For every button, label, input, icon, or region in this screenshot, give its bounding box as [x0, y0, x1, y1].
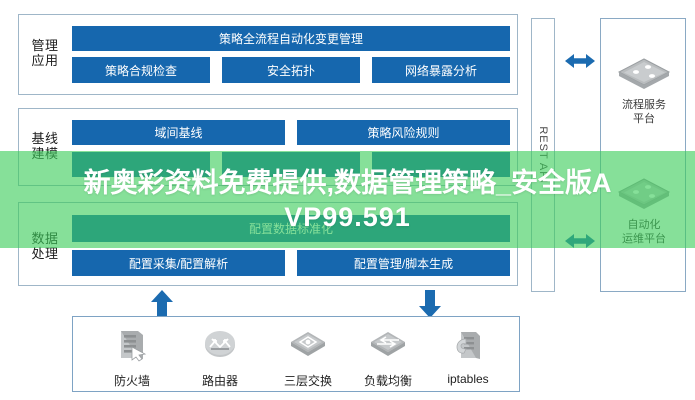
arrow-rest-to-process-platform-icon	[565, 52, 595, 75]
box-config-manage-script-gen[interactable]: 配置管理/脚本生成	[297, 250, 510, 276]
layer-label-line2: 应用	[24, 53, 66, 68]
device-load-balancer[interactable]: 负载均衡	[345, 325, 431, 389]
layer-label-line2: 处理	[24, 246, 66, 261]
iptables-icon	[425, 325, 511, 370]
device-label: 三层交换	[265, 372, 351, 389]
device-router[interactable]: 路由器	[177, 325, 263, 389]
diagram-canvas: 管理 应用 策略全流程自动化变更管理 策略合规检查 安全拓扑 网络暴露分析 基线…	[0, 0, 695, 400]
platform-label-line2: 平台	[601, 112, 687, 126]
rest-api-label: REST API	[537, 126, 549, 183]
box-baseline-sub-2[interactable]	[222, 152, 360, 177]
platform-automation-ops[interactable]: 自动化 运维平台	[601, 177, 687, 246]
layer-label-data-processing: 数据 处理	[24, 231, 66, 261]
firewall-icon	[89, 325, 175, 370]
layer-label-line2: 建模	[24, 146, 66, 161]
layer-label-management-application: 管理 应用	[24, 38, 66, 68]
layer3-switch-icon	[265, 325, 351, 370]
rest-api-channel: REST API	[531, 18, 555, 292]
box-network-exposure-analysis[interactable]: 网络暴露分析	[372, 57, 510, 83]
platform-cube-icon	[601, 57, 687, 94]
device-iptables[interactable]: iptables	[425, 325, 511, 386]
box-policy-full-process-automation[interactable]: 策略全流程自动化变更管理	[72, 26, 510, 51]
box-inter-domain-baseline[interactable]: 域间基线	[72, 120, 285, 145]
box-config-collect-parse[interactable]: 配置采集/配置解析	[72, 250, 285, 276]
device-label: 负载均衡	[345, 372, 431, 389]
box-policy-risk-rules[interactable]: 策略风险规则	[297, 120, 510, 145]
arrow-rest-to-ops-platform-icon	[565, 232, 595, 255]
platform-label-line1: 自动化	[601, 218, 687, 232]
platform-label-line1: 流程服务	[601, 98, 687, 112]
platform-label-line2: 运维平台	[601, 232, 687, 246]
platform-process-service[interactable]: 流程服务 平台	[601, 57, 687, 126]
device-label: 防火墙	[89, 372, 175, 389]
box-baseline-sub-3[interactable]	[372, 152, 510, 177]
layer-label-baseline-modeling: 基线 建模	[24, 131, 66, 161]
network-devices-panel: 防火墙 路由器	[72, 316, 520, 392]
device-label: iptables	[425, 372, 511, 386]
layer-label-line1: 基线	[24, 131, 66, 146]
layer-label-line1: 管理	[24, 38, 66, 53]
device-firewall[interactable]: 防火墙	[89, 325, 175, 389]
load-balancer-icon	[345, 325, 431, 370]
router-icon	[177, 325, 263, 370]
box-config-data-standardization[interactable]: 配置数据标准化	[72, 215, 510, 242]
platform-column: 流程服务 平台 自动化 运维平台	[600, 18, 686, 292]
box-baseline-sub-1[interactable]	[72, 152, 210, 177]
device-label: 路由器	[177, 372, 263, 389]
device-layer3-switch[interactable]: 三层交换	[265, 325, 351, 389]
layer-label-line1: 数据	[24, 231, 66, 246]
box-security-topology[interactable]: 安全拓扑	[222, 57, 360, 83]
platform-cube-icon	[601, 177, 687, 214]
box-policy-compliance-check[interactable]: 策略合规检查	[72, 57, 210, 83]
